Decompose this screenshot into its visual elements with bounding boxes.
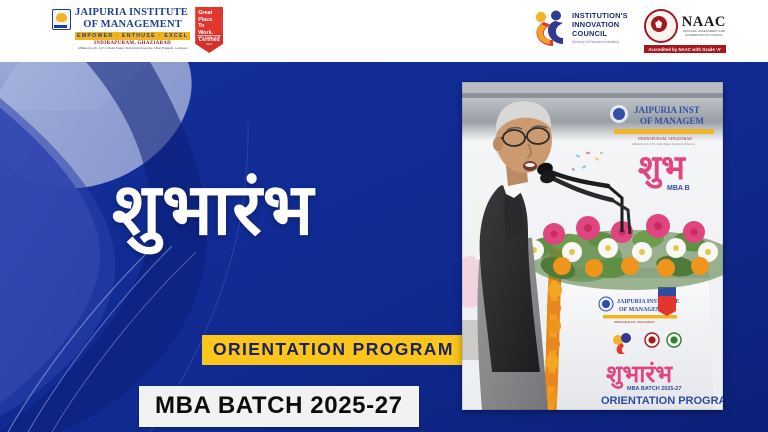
naac-row: NAAC NATIONAL ASSESSMENT AND ACCREDITATI… — [644, 9, 726, 43]
hindi-title: शुभारंभ — [112, 167, 314, 253]
naac-wordmark: NAAC NATIONAL ASSESSMENT AND ACCREDITATI… — [682, 15, 726, 37]
gptw-line3: To — [198, 23, 221, 30]
orientation-program-band: ORIENTATION PROGRAM — [202, 335, 465, 365]
iic-line3: COUNCIL — [572, 30, 628, 39]
naac-full-line2: ACCREDITATION COUNCIL — [682, 34, 726, 38]
svg-text:ORIENTATION PROGRAM: ORIENTATION PROGRAM — [601, 395, 723, 407]
naac-logo: NAAC NATIONAL ASSESSMENT AND ACCREDITATI… — [644, 9, 726, 53]
svg-text:शुभारंभ: शुभारंभ — [606, 361, 673, 389]
title-block: शुभारंभ ORIENTATION PROGRAM MBA BATCH 20… — [0, 62, 455, 432]
header-right-logos: INSTITUTION'S INNOVATION COUNCIL (Minist… — [532, 9, 726, 53]
svg-text:Affiliated to Dr. A.P.J. Abdul: Affiliated to Dr. A.P.J. Abdul Kalam Tec… — [632, 142, 696, 146]
speaker-photo: JAIPURIA INST OF MANAGEM INDIRAPURAM, GH… — [462, 82, 723, 410]
jaipuria-city: INDIRAPURAM, GHAZIABAD — [75, 41, 190, 46]
svg-text:MBA B: MBA B — [667, 185, 690, 192]
svg-text:JAIPURIA INST: JAIPURIA INST — [634, 105, 700, 115]
iic-logo: INSTITUTION'S INNOVATION COUNCIL (Minist… — [532, 9, 628, 47]
svg-text:OF MANAGEM: OF MANAGEM — [640, 116, 704, 126]
jaipuria-line1: JAIPURIA INSTITUTE — [75, 7, 190, 19]
jaipuria-line2: OF MANAGEMENT — [83, 19, 182, 31]
jaipuria-logo: JAIPURIA INSTITUTE OF MANAGEMENT EMPOWER… — [52, 7, 190, 50]
speaker-photo-svg: JAIPURIA INST OF MANAGEM INDIRAPURAM, GH… — [462, 82, 723, 410]
iic-subtitle: (Ministry of Education Initiative) — [572, 40, 628, 44]
iic-wordmark: INSTITUTION'S INNOVATION COUNCIL (Minist… — [572, 12, 628, 43]
jaipuria-affiliation: Affiliated to Dr. A.P.J. Abdul Kalam Tec… — [75, 46, 190, 50]
header-bar: JAIPURIA INSTITUTE OF MANAGEMENT EMPOWER… — [0, 0, 768, 62]
svg-text:शुभ: शुभ — [638, 149, 686, 189]
iic-emblem-icon — [532, 9, 568, 47]
header-left-logos: JAIPURIA INSTITUTE OF MANAGEMENT EMPOWER… — [52, 7, 223, 53]
great-place-to-work-badge: Great Place To Work. Certified NOV 2023 … — [195, 7, 223, 53]
svg-text:MBA BATCH 2025-27: MBA BATCH 2025-27 — [627, 386, 681, 392]
gptw-line1: Great — [198, 10, 221, 17]
jaipuria-wordmark: JAIPURIA INSTITUTE OF MANAGEMENT EMPOWER… — [75, 7, 190, 50]
naac-accreditation-bar: Accredited by NAAC with Grade 'A' — [644, 45, 726, 53]
gptw-line2: Place — [198, 17, 221, 24]
naac-seal-icon — [644, 9, 678, 43]
orientation-program-poster: JAIPURIA INSTITUTE OF MANAGEMENT EMPOWER… — [0, 0, 768, 432]
mba-batch-band: MBA BATCH 2025-27 — [139, 386, 419, 427]
gptw-certified-dates: NOV 2023 - NOV 2024 — [197, 35, 221, 48]
jaipuria-tagline: EMPOWER · ENTHUSE · EXCEL — [75, 32, 190, 40]
jaipuria-crest-icon — [52, 9, 71, 30]
naac-acronym: NAAC — [682, 15, 726, 30]
